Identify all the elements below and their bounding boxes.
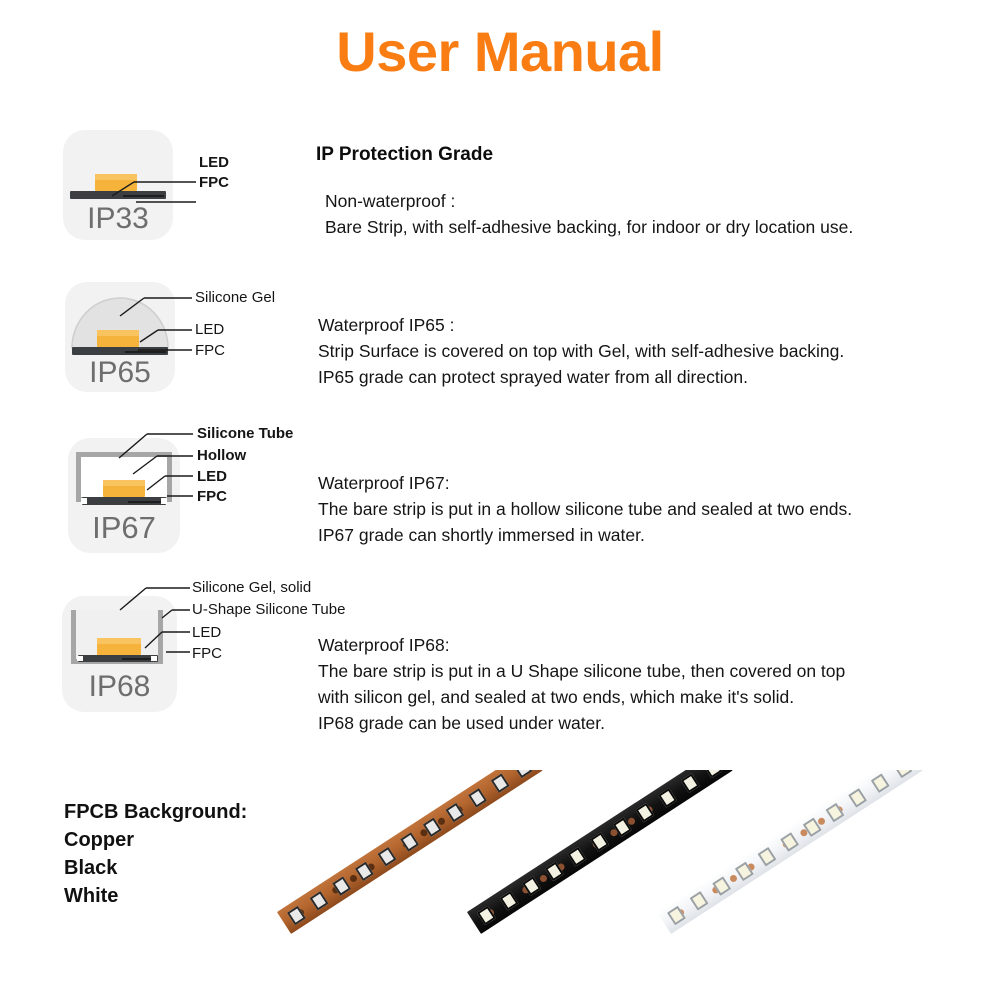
smd-led xyxy=(332,876,351,896)
smd-led xyxy=(735,861,754,881)
ip68-callout-u-shape-silicone-tube: U-Shape Silicone Tube xyxy=(192,602,345,617)
ip65-callout-silicone-gel: Silicone Gel xyxy=(195,290,275,305)
smd-led xyxy=(522,876,541,896)
user-manual-page: User Manual IP Protection Grade IP33 LED… xyxy=(0,0,1000,1000)
ip68-u-tube-right-wall xyxy=(158,610,163,664)
smd-led xyxy=(499,891,518,911)
ip67-callout-fpc: FPC xyxy=(197,489,227,504)
smd-led xyxy=(355,861,374,881)
ip68-led-chip xyxy=(97,638,141,655)
ip65-led-chip xyxy=(97,330,139,347)
smd-led xyxy=(658,788,677,808)
ip67-tube-end-left xyxy=(81,498,87,504)
smd-led xyxy=(477,905,496,925)
ip33-fpc-bar xyxy=(70,191,166,199)
smd-led xyxy=(635,802,654,822)
smd-led xyxy=(545,861,564,881)
ip68-fpc-bar xyxy=(78,655,158,662)
smd-led xyxy=(377,846,396,866)
smd-led xyxy=(422,817,441,837)
ip33-icon-tile: IP33 xyxy=(63,130,173,240)
ip65-icon-tile: IP65 xyxy=(65,282,175,392)
ip67-callout-led: LED xyxy=(197,469,227,484)
ip68-callout-led: LED xyxy=(192,625,221,640)
smd-led xyxy=(757,846,776,866)
ip33-led-chip xyxy=(95,174,137,191)
ip33-description: Non-waterproof : Bare Strip, with self-a… xyxy=(325,188,905,240)
smd-led xyxy=(667,905,686,925)
ip65-callout-led: LED xyxy=(195,322,224,337)
smd-led xyxy=(680,773,699,793)
smd-led xyxy=(590,832,609,852)
ip65-callout-fpc: FPC xyxy=(195,343,225,358)
ip68-callout-silicone-gel-solid: Silicone Gel, solid xyxy=(192,580,311,595)
ip68-tube-end-right xyxy=(151,656,157,661)
white-strip-leds xyxy=(657,770,923,934)
smd-led xyxy=(780,832,799,852)
smd-led xyxy=(287,905,306,925)
ip68-tube-end-left xyxy=(77,656,83,661)
smd-led xyxy=(802,817,821,837)
smd-led xyxy=(825,802,844,822)
ip67-tile-label: IP67 xyxy=(68,510,180,546)
smd-led xyxy=(445,802,464,822)
ip65-tile-label: IP65 xyxy=(65,356,175,390)
ip67-callout-hollow: Hollow xyxy=(197,448,246,463)
ip68-description: Waterproof IP68: The bare strip is put i… xyxy=(318,632,978,736)
ip33-tile-label: IP33 xyxy=(63,202,173,236)
ip67-tube-end-right xyxy=(161,498,167,504)
page-title: User Manual xyxy=(0,24,1000,80)
ip65-description: Waterproof IP65 : Strip Surface is cover… xyxy=(318,312,918,390)
smd-led xyxy=(468,788,487,808)
ip67-fpc-bar xyxy=(82,497,166,505)
smd-led xyxy=(567,846,586,866)
ip67-callout-silicone-tube: Silicone Tube xyxy=(197,426,293,441)
section-heading-ip-protection-grade: IP Protection Grade xyxy=(316,144,493,166)
smd-led xyxy=(400,832,419,852)
smd-led xyxy=(848,788,867,808)
smd-led xyxy=(612,817,631,837)
smd-led xyxy=(893,770,912,778)
ip68-icon-tile: IP68 xyxy=(62,596,177,712)
smd-led xyxy=(309,891,328,911)
ip67-led-chip xyxy=(103,480,145,497)
smd-led xyxy=(703,770,722,778)
smd-led xyxy=(870,773,889,793)
fpcb-background-legend: FPCB Background: Copper Black White xyxy=(64,798,247,910)
smd-led xyxy=(689,891,708,911)
ip67-icon-tile: IP67 xyxy=(68,438,180,553)
ip33-callout-led: LED xyxy=(199,155,229,170)
smd-led xyxy=(513,770,532,778)
ip68-callout-fpc: FPC xyxy=(192,646,222,661)
led-strip-white xyxy=(657,770,923,934)
ip33-callout-fpc: FPC xyxy=(199,175,229,190)
ip65-fpc-bar xyxy=(72,347,168,355)
ip67-description: Waterproof IP67: The bare strip is put i… xyxy=(318,470,928,548)
smd-led xyxy=(712,876,731,896)
ip68-tile-label: IP68 xyxy=(62,670,177,704)
led-strip-gallery xyxy=(270,770,1000,935)
smd-led xyxy=(490,773,509,793)
